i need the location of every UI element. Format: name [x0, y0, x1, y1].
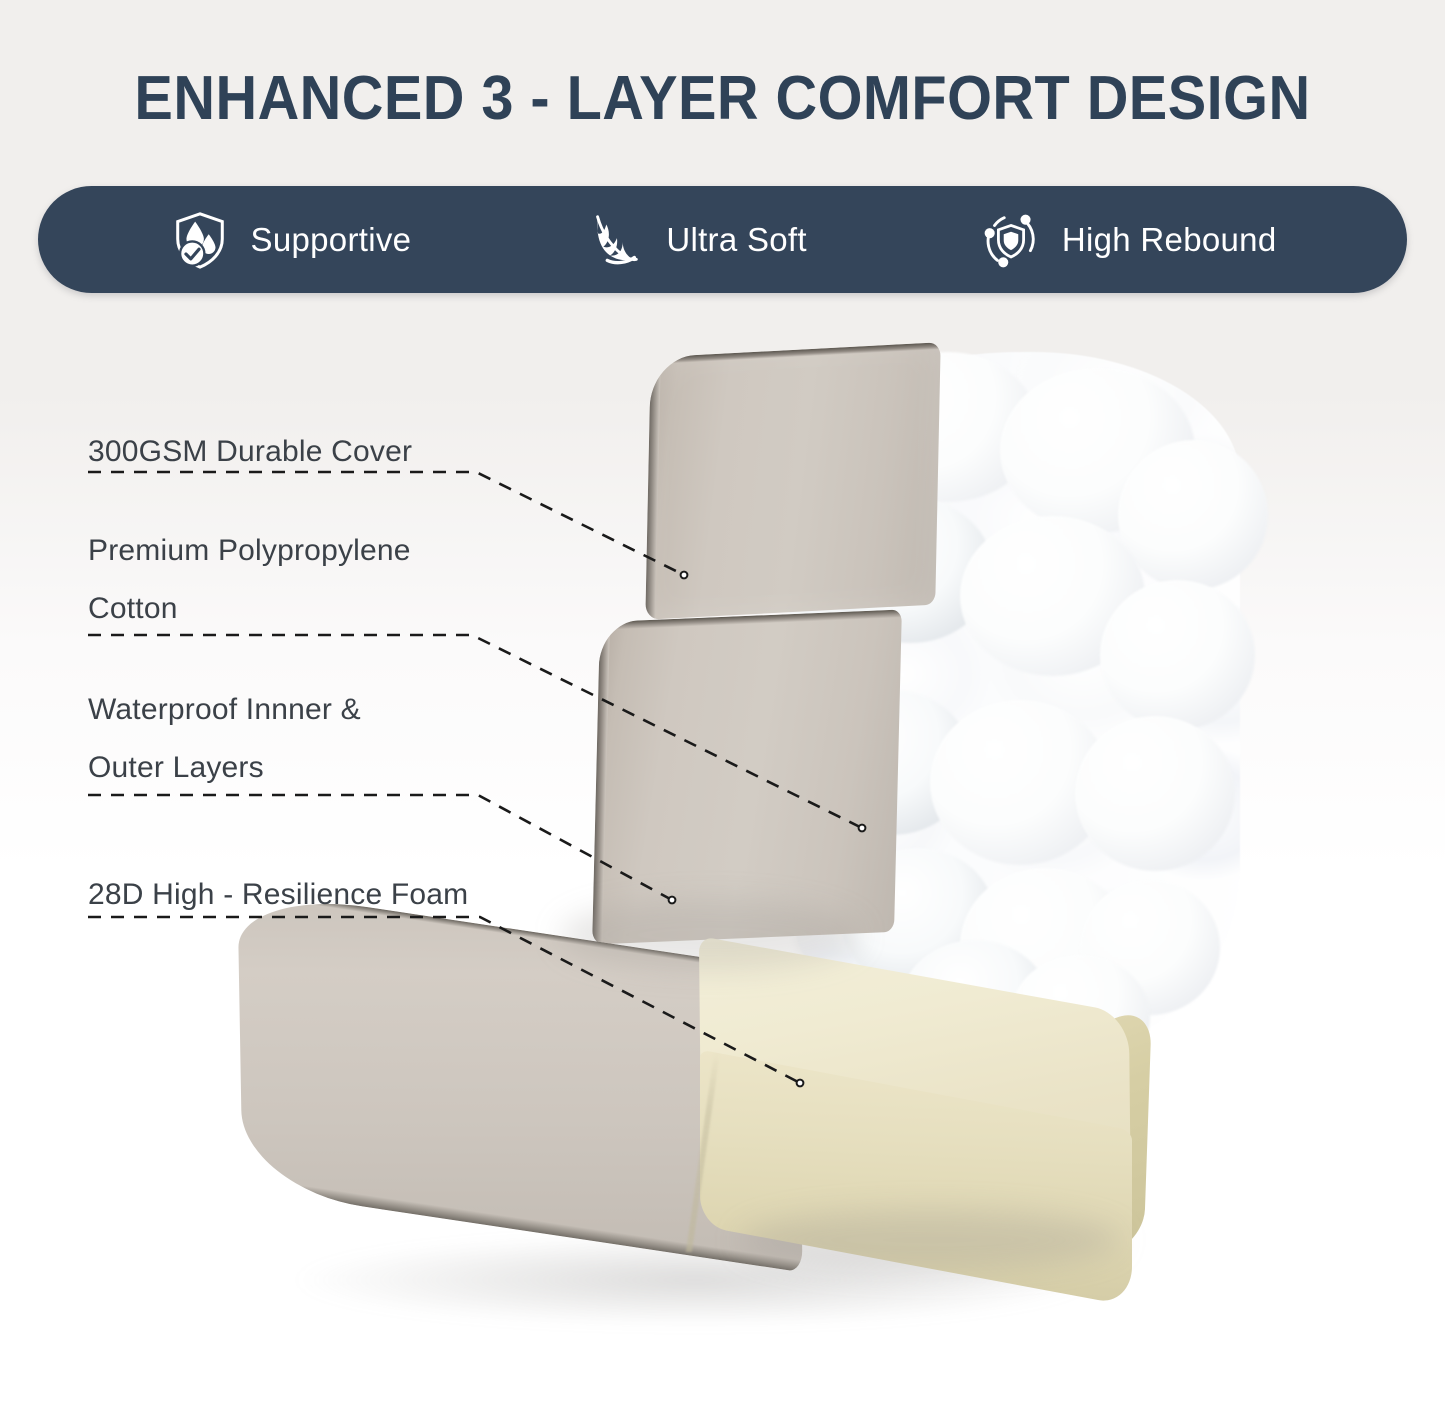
callout-label-cover: 300GSM Durable Cover — [88, 423, 412, 481]
callout-label-cotton: Premium Polypropylene Cotton — [88, 522, 411, 638]
cotton-lobe — [1118, 440, 1268, 590]
callout-line: Waterproof Innner & — [88, 681, 361, 739]
cotton-lobe — [1100, 580, 1255, 730]
callout-line: 28D High - Resilience Foam — [88, 866, 468, 924]
callout-label-layers: Waterproof Innner & Outer Layers — [88, 681, 361, 797]
backrest-fabric-panel — [592, 609, 902, 944]
callout-line: Outer Layers — [88, 739, 361, 797]
headrest-fabric-panel — [645, 342, 940, 620]
callout-line: 300GSM Durable Cover — [88, 423, 412, 481]
callout-line: Cotton — [88, 580, 411, 638]
cotton-lobe — [1075, 716, 1235, 871]
callout-line: Premium Polypropylene — [88, 522, 411, 580]
callout-label-foam: 28D High - Resilience Foam — [88, 866, 468, 924]
infographic-page: ENHANCED 3 - LAYER COMFORT DESIGN Suppor… — [0, 0, 1445, 1406]
